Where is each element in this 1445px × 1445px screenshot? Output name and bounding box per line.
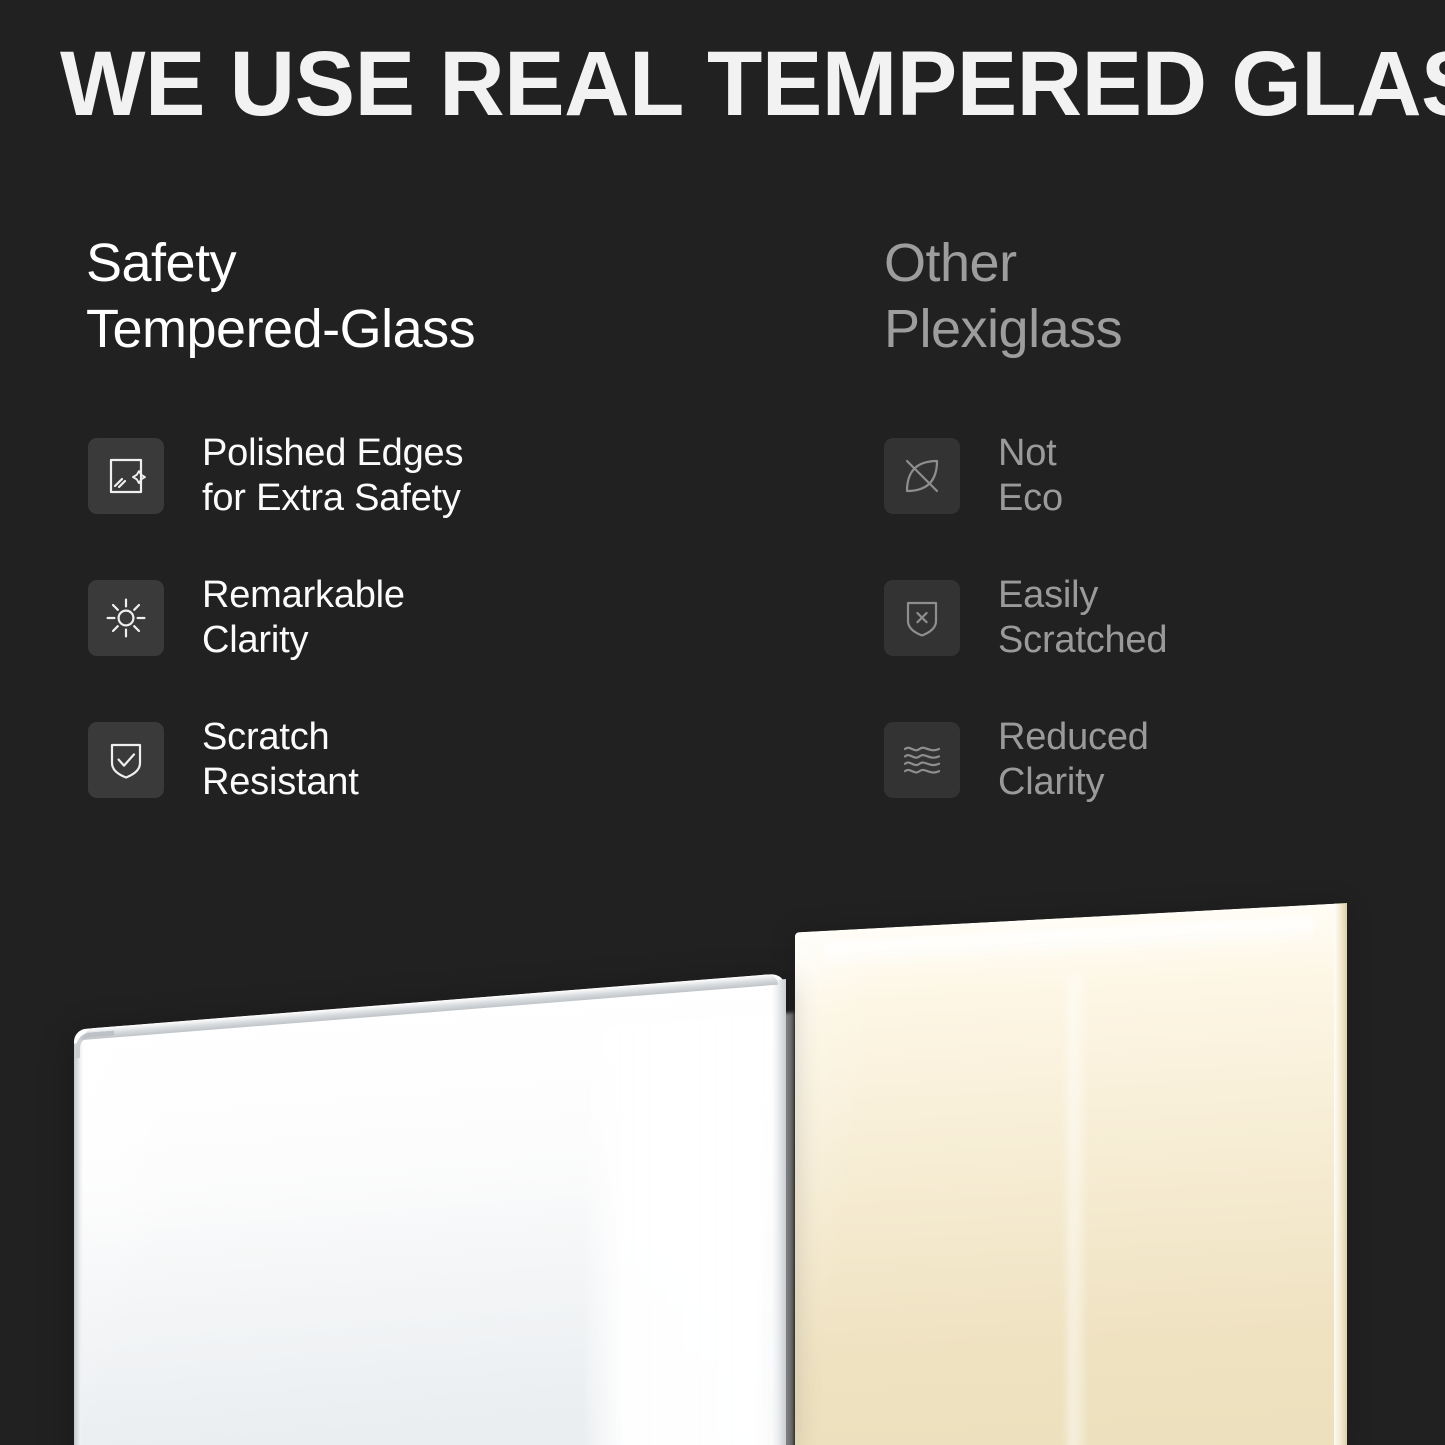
page-title: WE USE REAL TEMPERED GLASS [60,36,1380,132]
glass-reflection-band [586,1012,794,1445]
plexi-right-edge [1334,903,1347,1445]
glass-left-polished-edge [74,1043,83,1445]
shield-x-icon [884,580,960,656]
product-photo [0,840,1445,1445]
shield-check-icon [88,722,164,798]
column-heading-plexiglass: Other Plexiglass [884,230,1424,362]
feature-row: Not Eco [884,438,1167,514]
plexi-top-sheen [825,917,1313,969]
feature-label: Remarkable Clarity [202,573,405,663]
infographic-canvas: WE USE REAL TEMPERED GLASS Safety Temper… [0,0,1445,1445]
feature-label: Scratch Resistant [202,715,359,805]
feature-row: Reduced Clarity [884,722,1167,798]
wavy-distortion-icon [884,722,960,798]
column-plexiglass: Other Plexiglass Not Eco [884,230,1424,362]
feature-row: Easily Scratched [884,580,1167,656]
comparison-section: Safety Tempered-Glass Polished Edges for… [0,230,1445,870]
feature-row: Scratch Resistant [88,722,463,798]
feature-list-plexiglass: Not Eco Easily Scratched [884,438,1167,798]
feature-label: Not Eco [998,431,1063,521]
feature-label: Polished Edges for Extra Safety [202,431,463,521]
plexi-reflection-band [1063,975,1085,1445]
leaf-crossed-out-icon [884,438,960,514]
glass-right-polished-edge [772,979,786,1445]
feature-label: Easily Scratched [998,573,1167,663]
feature-row: Polished Edges for Extra Safety [88,438,463,514]
sun-brightness-icon [88,580,164,656]
feature-row: Remarkable Clarity [88,580,463,656]
plexiglass-panel [795,903,1347,1445]
feature-list-tempered-glass: Polished Edges for Extra Safety Remarkab… [88,438,463,798]
polished-glass-pane-icon [88,438,164,514]
glass-top-left-corner [76,1030,114,1058]
feature-label: Reduced Clarity [998,715,1149,805]
column-heading-tempered-glass: Safety Tempered-Glass [86,230,806,362]
tempered-glass-panel [74,973,786,1445]
column-tempered-glass: Safety Tempered-Glass Polished Edges for… [86,230,806,362]
